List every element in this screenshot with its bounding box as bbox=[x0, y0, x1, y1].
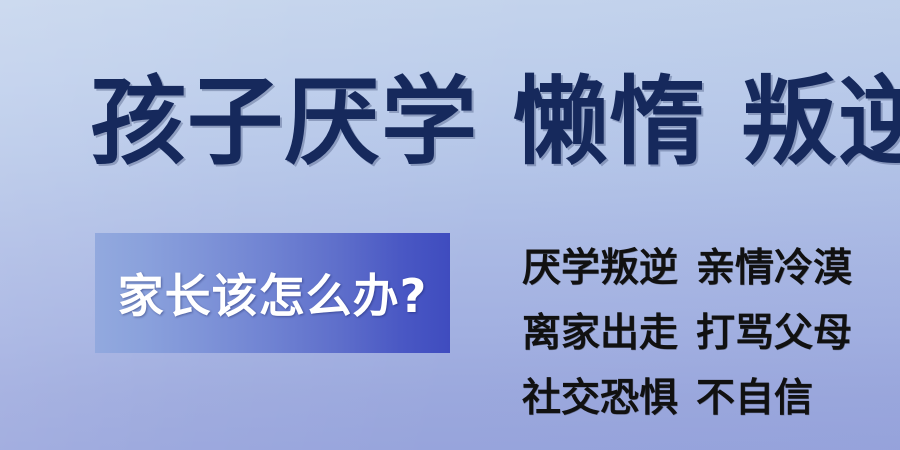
symptom-row: 离家出走打骂父母 bbox=[522, 301, 852, 366]
question-badge: 家长该怎么办? bbox=[95, 233, 450, 353]
symptom-item-right: 打骂父母 bbox=[696, 311, 852, 356]
symptom-row: 社交恐惧不自信 bbox=[522, 366, 852, 431]
symptom-item-right: 不自信 bbox=[696, 376, 813, 421]
symptom-item-left: 社交恐惧 bbox=[522, 376, 678, 421]
symptom-row: 厌学叛逆亲情冷漠 bbox=[522, 236, 852, 301]
symptom-item-right: 亲情冷漠 bbox=[696, 246, 852, 291]
question-badge-label: 家长该怎么办? bbox=[95, 233, 450, 353]
symptom-item-left: 厌学叛逆 bbox=[522, 246, 678, 291]
poster-canvas: 孩子厌学 懒惰 叛逆 家长该怎么办? 厌学叛逆亲情冷漠 离家出走打骂父母 社交恐… bbox=[0, 0, 900, 450]
symptom-list: 厌学叛逆亲情冷漠 离家出走打骂父母 社交恐惧不自信 bbox=[522, 236, 852, 431]
symptom-item-left: 离家出走 bbox=[522, 311, 678, 356]
page-title: 孩子厌学 懒惰 叛逆 bbox=[90, 66, 820, 178]
